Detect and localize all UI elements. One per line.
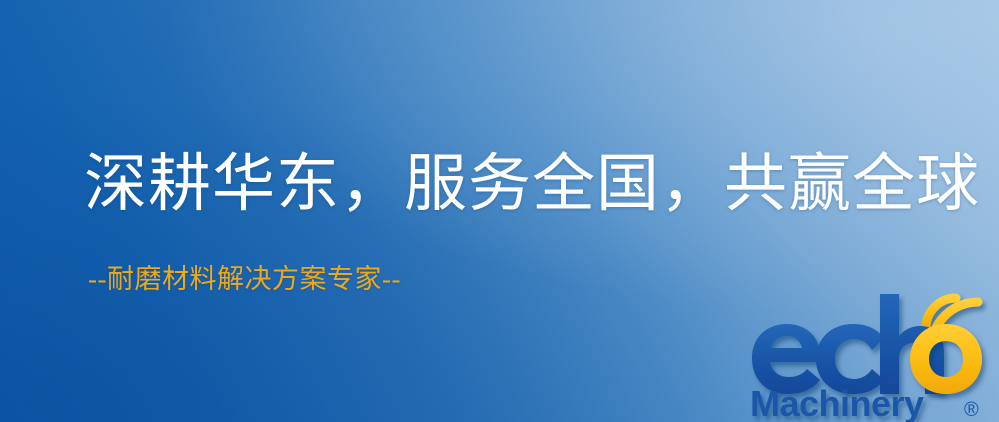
hero-banner: 深耕华东，服务全国，共赢全球 --耐磨材料解决方案专家-- (0, 0, 999, 422)
page-subtitle: --耐磨材料解决方案专家-- (88, 263, 401, 295)
page-title: 深耕华东，服务全国，共赢全球 (84, 147, 980, 221)
company-logo[interactable]: Machinery ® (744, 292, 999, 422)
logo-trademark-symbol: ® (964, 399, 979, 421)
logo-tagline: Machinery (750, 383, 924, 422)
